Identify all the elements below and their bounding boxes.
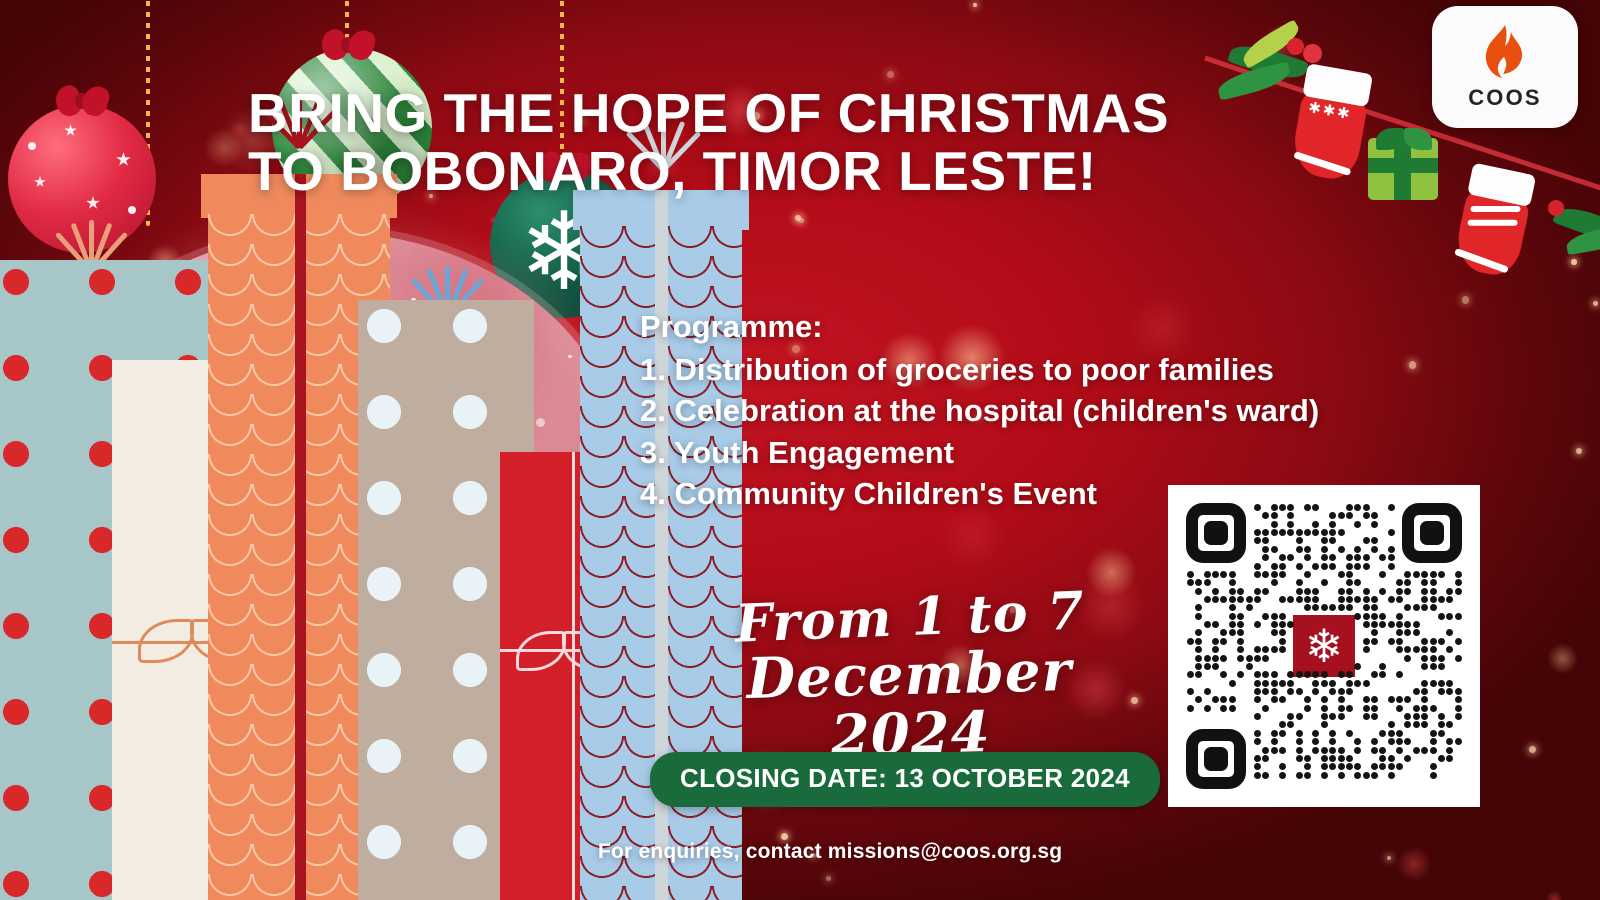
poster-canvas: ❄ ✱✱✱ <box>0 0 1600 900</box>
snowflake-icon: ❄ <box>1293 615 1355 677</box>
stocking-icon-right <box>1452 163 1537 280</box>
headline-line-2: TO BOBONARO, TIMOR LESTE! <box>248 142 1258 200</box>
event-date-line-2: December 2024 <box>699 641 1122 770</box>
event-date: From 1 to 7 December 2024 <box>700 592 1120 765</box>
qr-finder-top-right <box>1402 503 1462 563</box>
gift-green-icon <box>1368 128 1438 200</box>
programme-heading: Programme: <box>640 306 1400 347</box>
qr-finder-bottom-left <box>1186 729 1246 789</box>
enquiries-text: For enquiries, contact missions@coos.org… <box>598 840 1062 864</box>
list-item: 2. Celebration at the hospital (children… <box>640 390 1400 431</box>
page-title: BRING THE HOPE OF CHRISTMAS TO BOBONARO,… <box>248 84 1258 201</box>
headline-line-1: BRING THE HOPE OF CHRISTMAS <box>248 84 1258 142</box>
qr-code[interactable]: ❄ <box>1168 485 1480 807</box>
holly-sprig-right-icon <box>1548 196 1600 266</box>
closing-date-badge: CLOSING DATE: 13 OCTOBER 2024 <box>650 752 1160 807</box>
list-item: 1. Distribution of groceries to poor fam… <box>640 349 1400 390</box>
qr-finder-top-left <box>1186 503 1246 563</box>
flame-icon <box>1478 23 1532 81</box>
list-item: 3. Youth Engagement <box>640 432 1400 473</box>
bow-icon <box>56 86 108 116</box>
programme-block: Programme: 1. Distribution of groceries … <box>640 306 1400 514</box>
bow-icon <box>322 30 374 60</box>
coos-logo[interactable]: COOS <box>1432 6 1578 128</box>
qr-modules: ❄ <box>1186 503 1462 789</box>
logo-wordmark: COOS <box>1468 85 1542 111</box>
